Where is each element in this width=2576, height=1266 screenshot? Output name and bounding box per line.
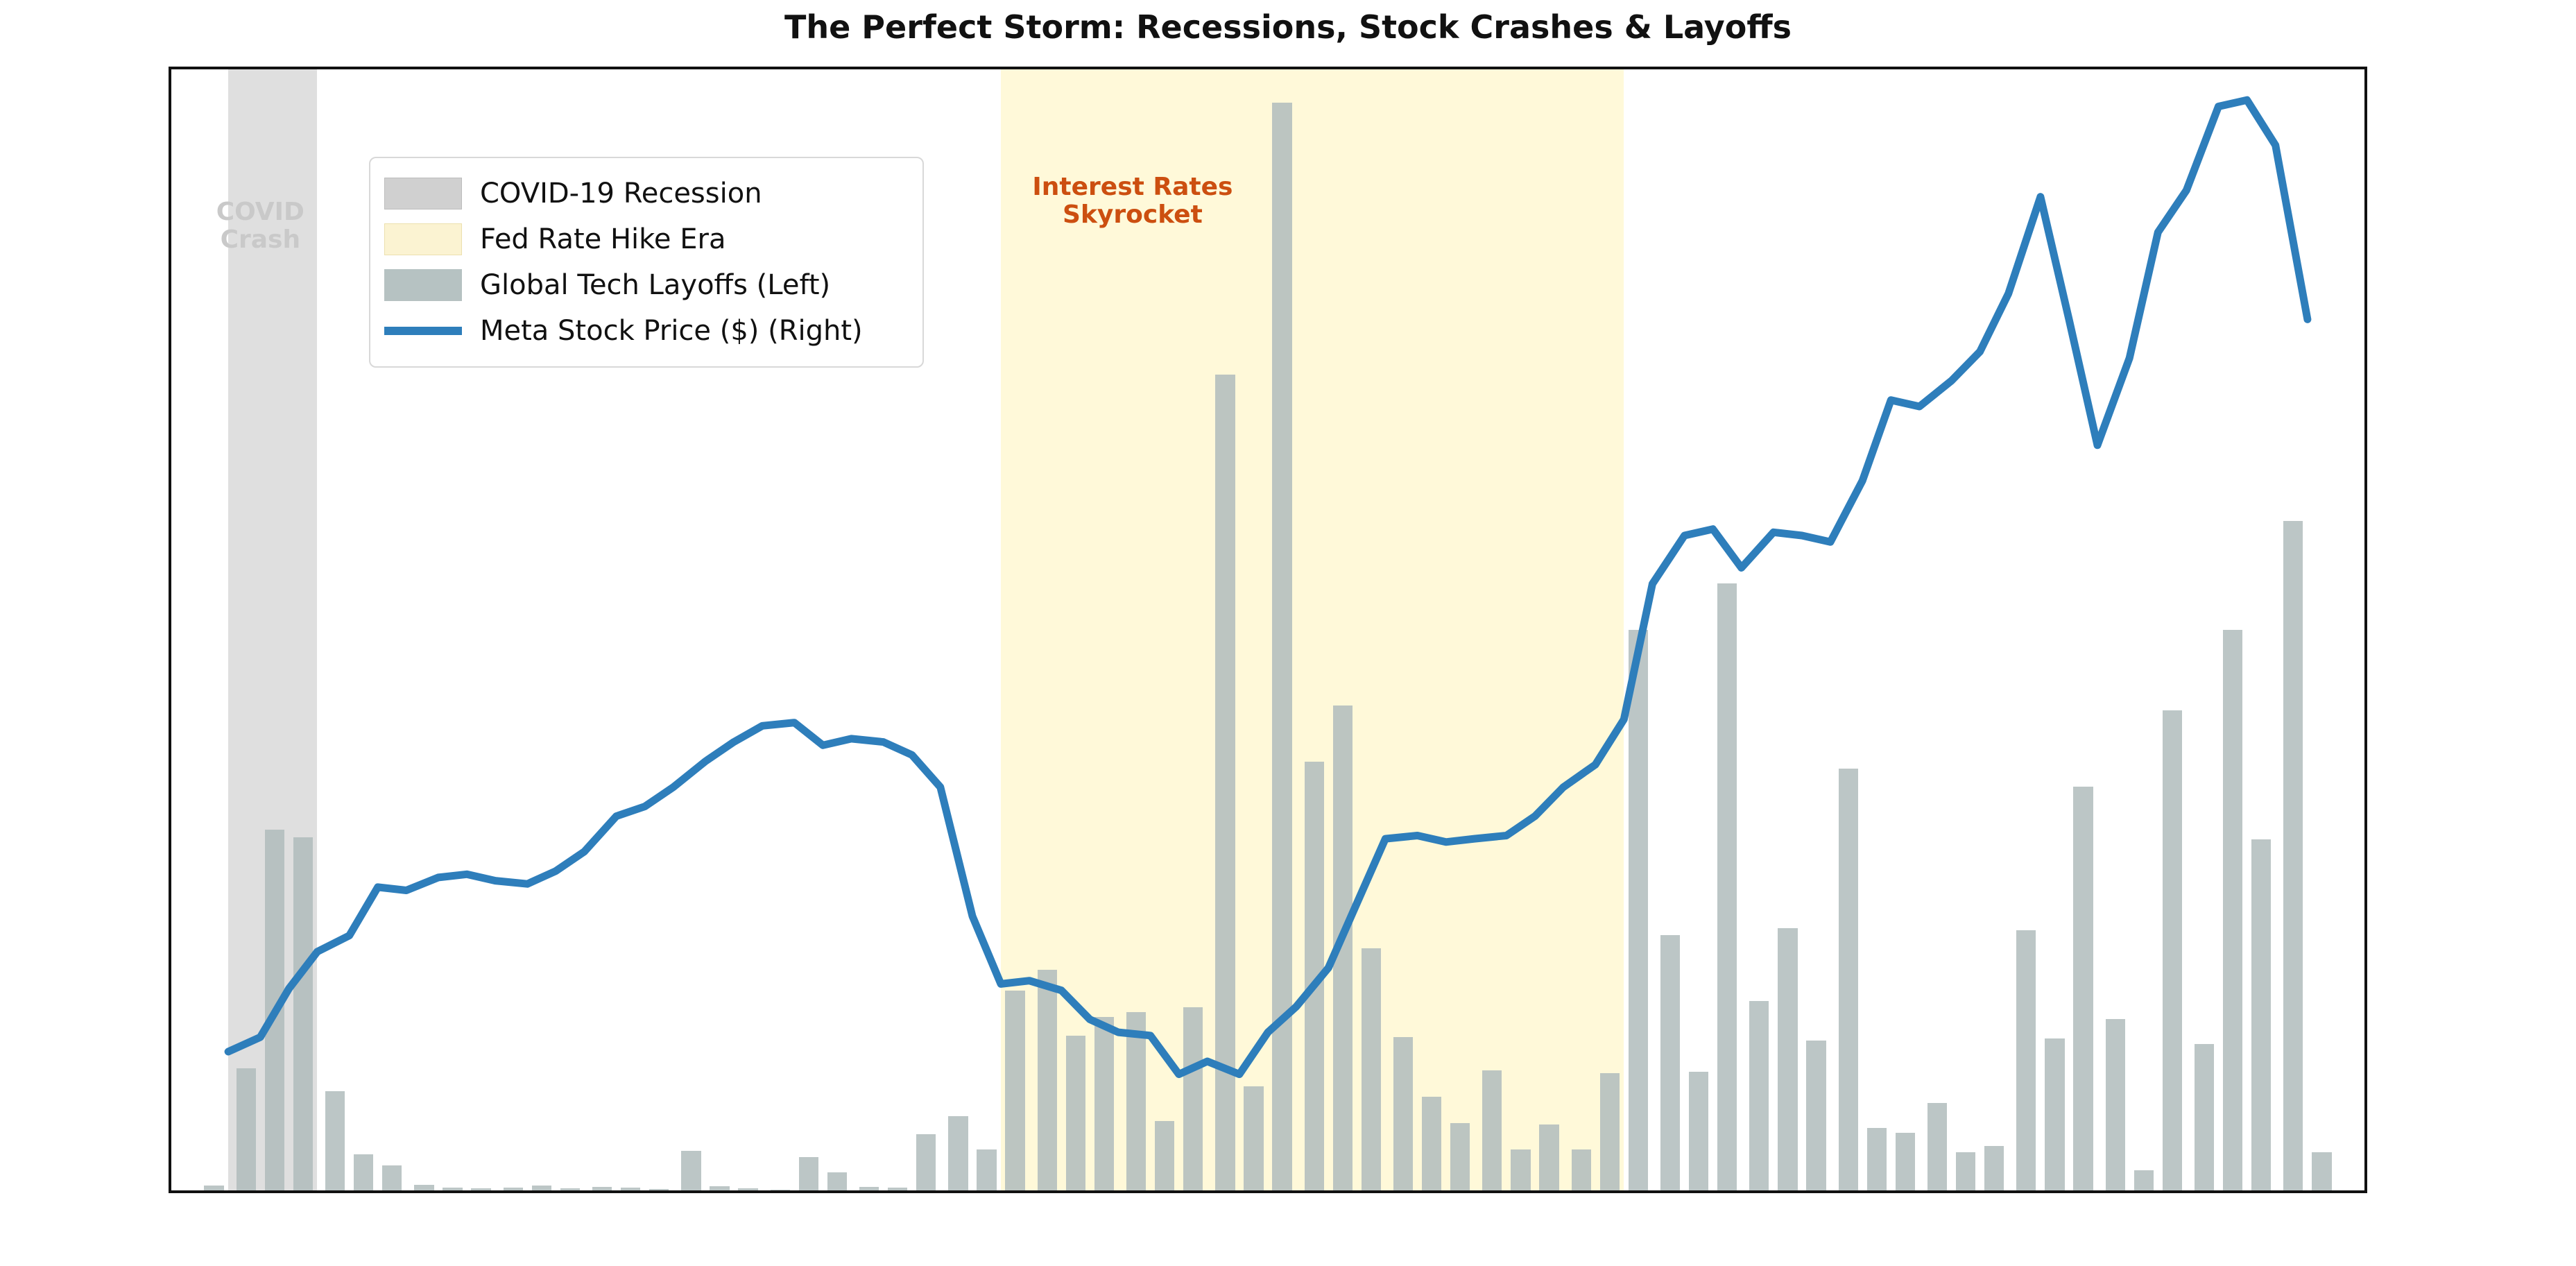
legend-label: Fed Rate Hike Era <box>480 223 725 255</box>
chart-legend: COVID-19 Recession Fed Rate Hike Era Glo… <box>369 157 924 368</box>
annotation-covid-crash: COVID Crash <box>170 198 350 255</box>
y-right-tickmark <box>2364 834 2367 837</box>
y-right-tickmark <box>2364 1156 2367 1159</box>
chart-canvas: The Perfect Storm: Recessions, Stock Cra… <box>0 0 2576 1266</box>
legend-item-covid-19-recession: COVID-19 Recession <box>384 171 907 216</box>
y-left-tickmark <box>169 1024 171 1027</box>
y-right-tickmark <box>2364 189 2367 191</box>
plot-inner: COVID Crash Interest Rates Skyrocket COV… <box>171 69 2364 1190</box>
y-left-tickmark <box>169 1189 171 1192</box>
legend-swatch-icon-line <box>384 327 462 335</box>
legend-label: Meta Stock Price ($) (Right) <box>480 315 863 347</box>
y-left-tickmark <box>169 859 171 862</box>
legend-item-meta-stock-price: Meta Stock Price ($) (Right) <box>384 308 907 354</box>
legend-label: COVID-19 Recession <box>480 178 762 209</box>
plot-area: COVID Crash Interest Rates Skyrocket COV… <box>169 67 2367 1193</box>
y-right-tickmark <box>2364 995 2367 998</box>
annotation-interest-rates-skyrocket: Interest Rates Skyrocket <box>994 173 1271 230</box>
legend-swatch-icon-bars <box>384 269 462 301</box>
legend-swatch-icon-covid <box>384 178 462 209</box>
y-right-tickmark <box>2364 673 2367 676</box>
legend-label: Global Tech Layoffs (Left) <box>480 269 830 301</box>
y-left-tickmark <box>169 365 171 368</box>
legend-swatch-icon-fed <box>384 223 462 255</box>
y-right-tickmark <box>2364 350 2367 353</box>
legend-item-global-tech-layoffs: Global Tech Layoffs (Left) <box>384 262 907 308</box>
y-left-tickmark <box>169 694 171 697</box>
legend-item-fed-rate-hike-era: Fed Rate Hike Era <box>384 216 907 262</box>
chart-title: The Perfect Storm: Recessions, Stock Cra… <box>0 8 2576 46</box>
y-left-tickmark <box>169 529 171 532</box>
y-right-tickmark <box>2364 511 2367 514</box>
y-left-tickmark <box>169 200 171 203</box>
